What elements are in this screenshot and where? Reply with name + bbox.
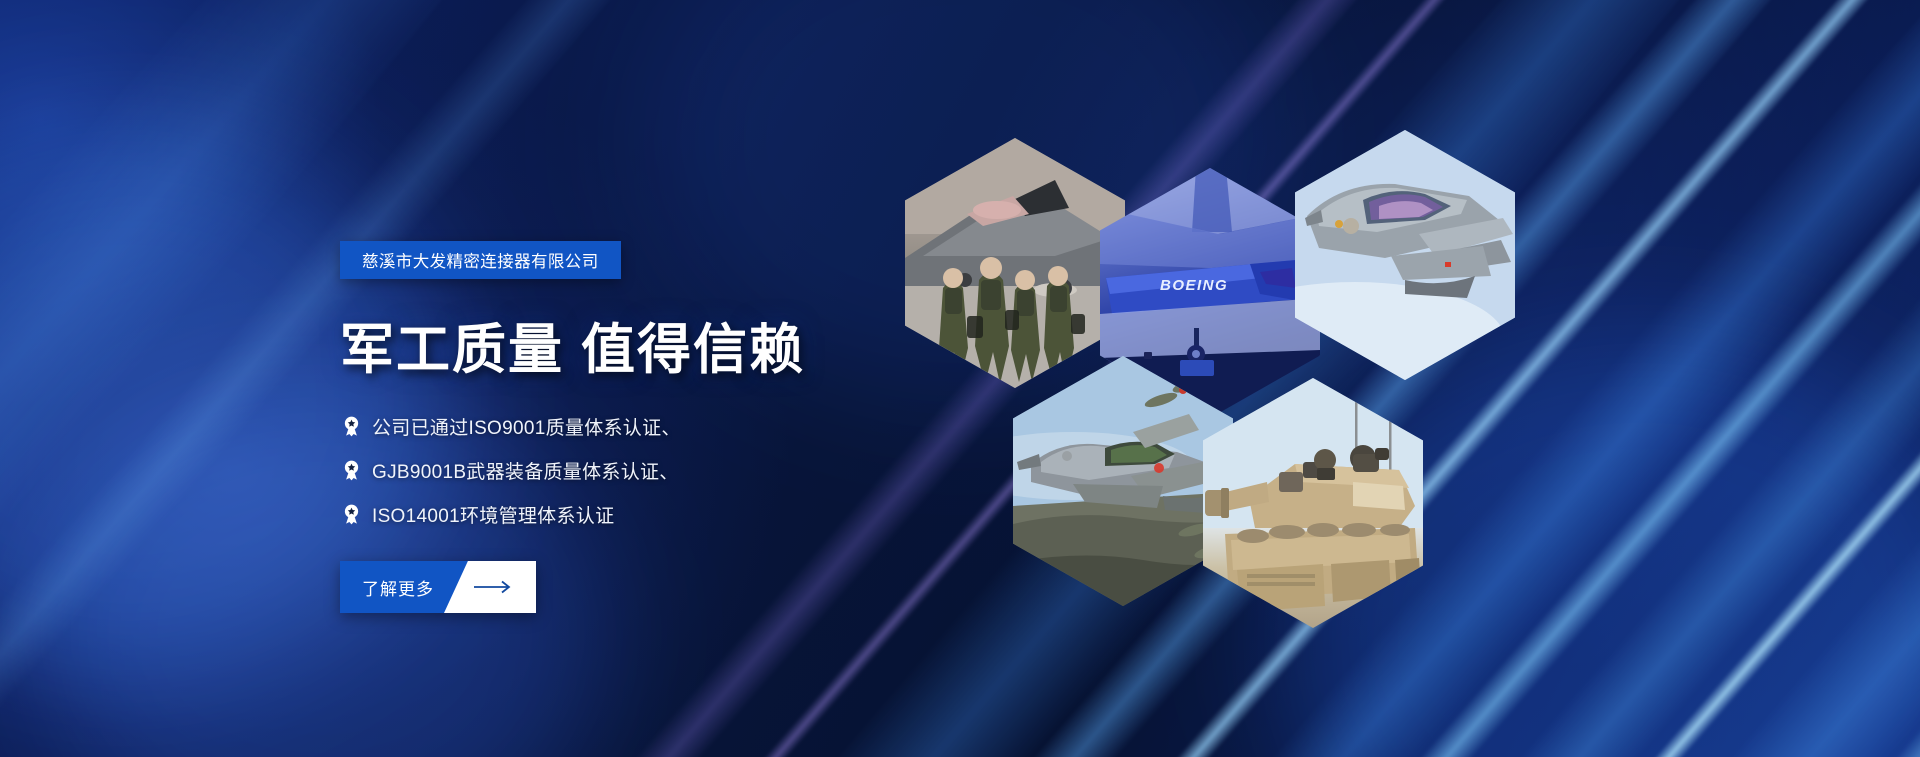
- company-name-text: 慈溪市大发精密连接器有限公司: [362, 248, 599, 272]
- medal-icon: [342, 460, 361, 481]
- hero-banner: 慈溪市大发精密连接器有限公司 军工质量 值得信赖 公司已通过ISO9001质量体…: [0, 0, 1920, 757]
- company-name-badge: 慈溪市大发精密连接器有限公司: [340, 241, 621, 279]
- certification-list: 公司已通过ISO9001质量体系认证、 GJB9001B武器装备质量体系认证、: [342, 404, 681, 536]
- list-item-label: ISO14001环境管理体系认证: [372, 501, 614, 528]
- list-item: GJB9001B武器装备质量体系认证、: [342, 448, 681, 492]
- hero-content: 慈溪市大发精密连接器有限公司 军工质量 值得信赖 公司已通过ISO9001质量体…: [340, 0, 980, 757]
- arrow-right-icon: [474, 561, 514, 613]
- learn-more-button[interactable]: 了解更多: [340, 561, 536, 613]
- svg-text:BOEING: BOEING: [1160, 277, 1228, 294]
- medal-icon: [342, 504, 361, 525]
- hex-battle-tank: [1203, 378, 1423, 628]
- hexagon-image-cluster: BOEING: [905, 130, 1625, 630]
- list-item: 公司已通过ISO9001质量体系认证、: [342, 404, 681, 448]
- list-item-label: 公司已通过ISO9001质量体系认证、: [372, 413, 681, 440]
- medal-icon: [342, 416, 361, 437]
- learn-more-label: 了解更多: [362, 561, 434, 613]
- list-item: ISO14001环境管理体系认证: [342, 492, 681, 536]
- hex-gripen-jet: [1295, 130, 1515, 380]
- page-title: 军工质量 值得信赖: [340, 305, 805, 384]
- list-item-label: GJB9001B武器装备质量体系认证、: [372, 457, 679, 484]
